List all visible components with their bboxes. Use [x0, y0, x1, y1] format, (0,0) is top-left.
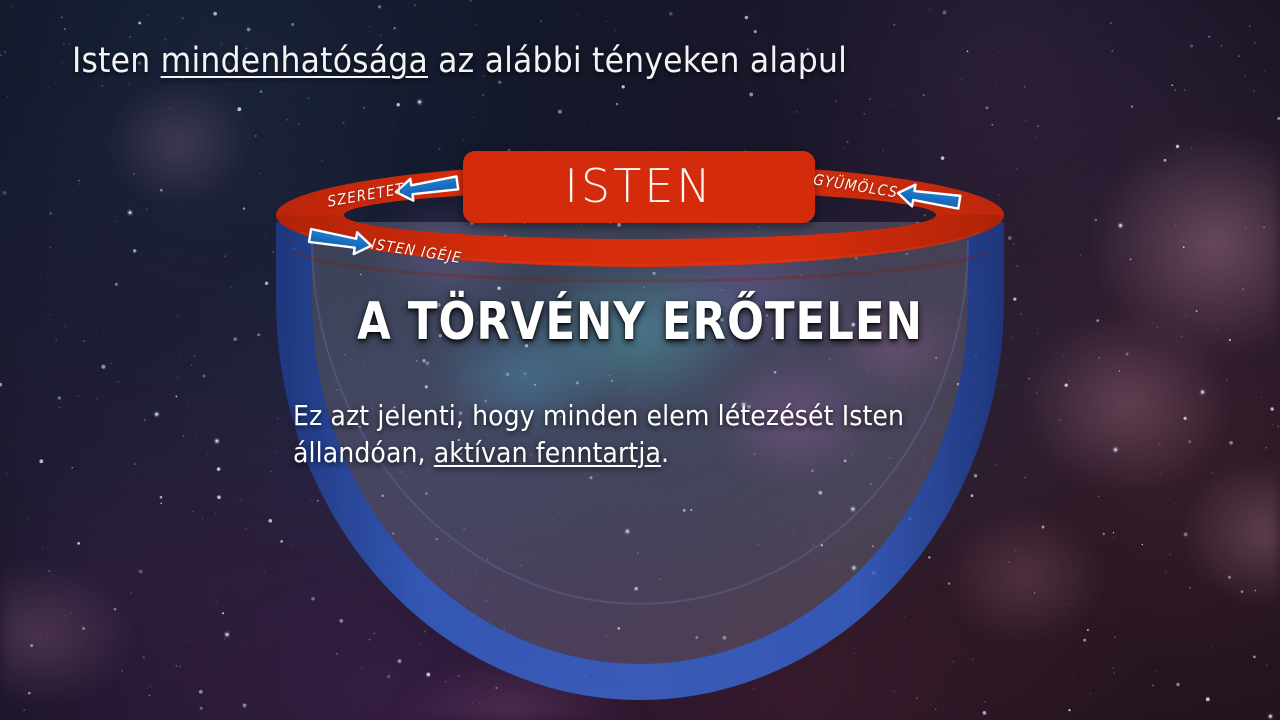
- body-line-2-emphasis: aktívan fenntartja: [434, 436, 661, 469]
- headline: A TÖRVÉNY ERŐTELEN: [45, 296, 1235, 348]
- slide-canvas: SZERETET ISTEN IGÉJE GYÜMÖLCS ISTEN Iste…: [0, 0, 1280, 720]
- body-line-1: Ez azt jelenti, hogy minden elem létezés…: [293, 399, 904, 432]
- red-ring-shape: [0, 0, 1280, 720]
- slide-title: Isten mindenhatósága az alábbi tényeken …: [72, 41, 847, 81]
- center-node-isten: ISTEN: [463, 151, 815, 223]
- body-copy: Ez azt jelenti, hogy minden elem létezés…: [293, 397, 953, 471]
- body-line-2-prefix: állandóan,: [293, 436, 434, 469]
- slide-title-suffix: az alábbi tényeken alapul: [428, 41, 847, 81]
- slide-title-emphasis: mindenhatósága: [161, 41, 428, 81]
- slide-title-prefix: Isten: [72, 41, 161, 81]
- body-line-2-suffix: .: [661, 436, 669, 469]
- center-node-label: ISTEN: [564, 163, 713, 209]
